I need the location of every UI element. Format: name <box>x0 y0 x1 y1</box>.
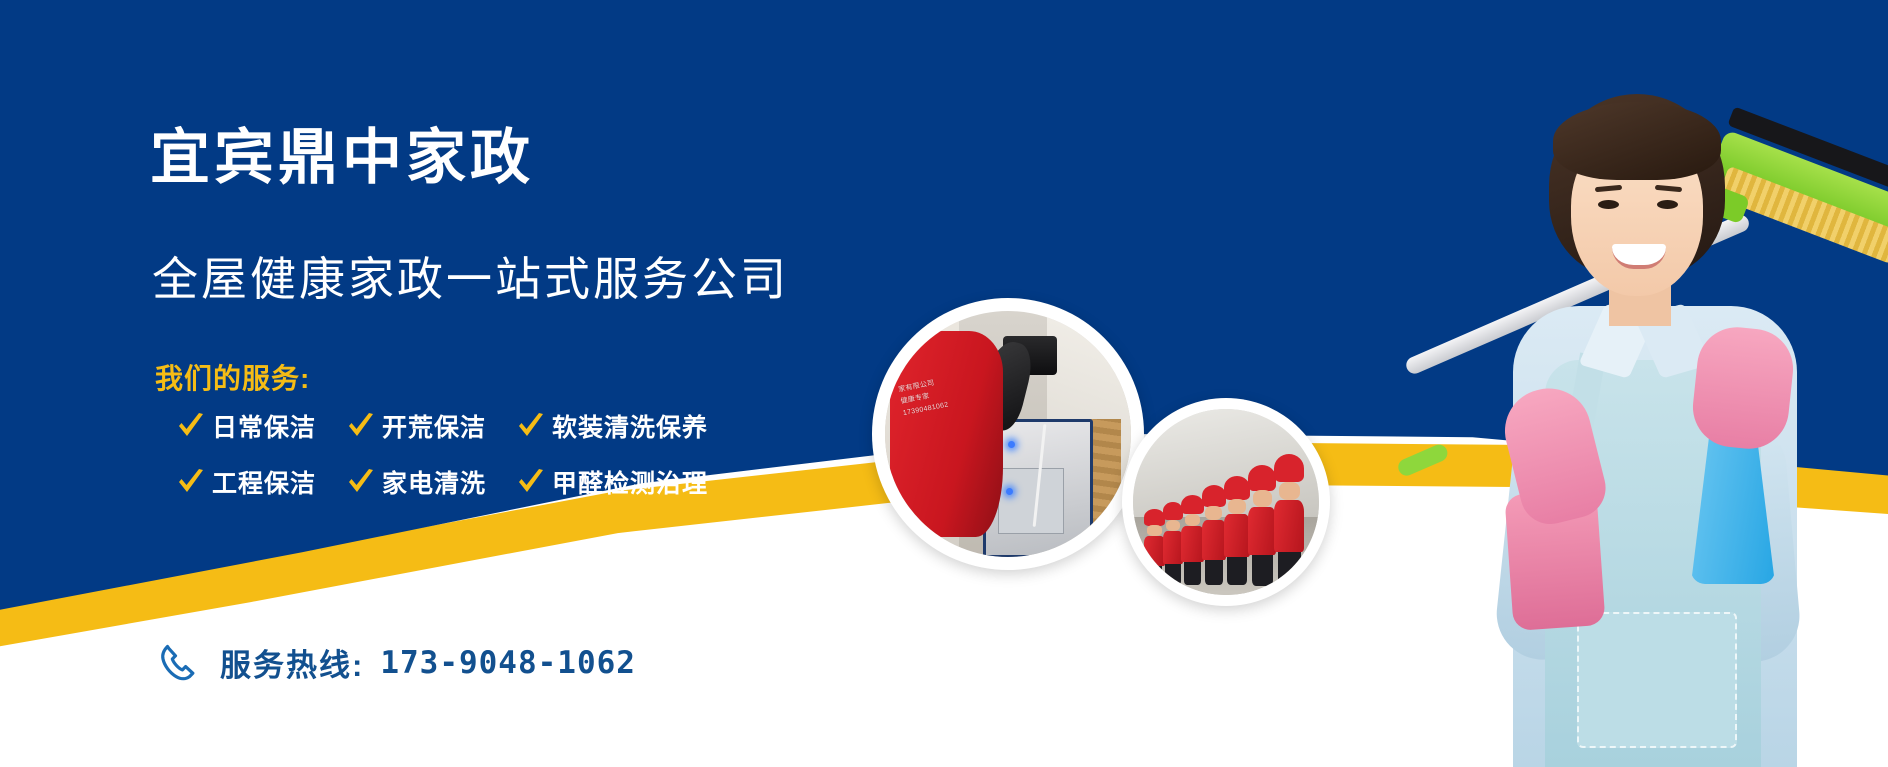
brand-subtitle: 全屋健康家政一站式服务公司 <box>152 256 789 302</box>
banner-content: 宜宾鼎中家政 全屋健康家政一站式服务公司 我们的服务: 日常保洁 <box>0 0 1888 767</box>
service-item-soft-furnishing-care[interactable]: 软装清洗保养 <box>516 408 708 444</box>
service-item-rough-cleaning[interactable]: 开荒保洁 <box>346 408 488 444</box>
hotline[interactable]: 服务热线: 173-9048-1062 <box>158 640 636 685</box>
check-icon <box>346 411 376 441</box>
services-row-1: 日常保洁 开荒保洁 软装清洗保养 <box>176 408 708 444</box>
services-list: 日常保洁 开荒保洁 软装清洗保养 <box>176 408 708 500</box>
service-item-daily-cleaning[interactable]: 日常保洁 <box>176 408 318 444</box>
service-label: 开荒保洁 <box>382 408 486 444</box>
check-icon <box>516 411 546 441</box>
promotional-banner: 家有限公司 健康专家 17390481062 宜宾鼎中家政 <box>0 0 1888 767</box>
services-row-2: 工程保洁 家电清洗 甲醛检测治理 <box>176 464 708 500</box>
service-label: 工程保洁 <box>212 464 316 500</box>
brand-title: 宜宾鼎中家政 <box>150 128 534 188</box>
hotline-label: 服务热线: <box>220 640 364 685</box>
service-label: 软装清洗保养 <box>552 408 708 444</box>
service-label: 日常保洁 <box>212 408 316 444</box>
hotline-number[interactable]: 173-9048-1062 <box>380 645 636 681</box>
check-icon <box>176 467 206 497</box>
check-icon <box>176 411 206 441</box>
phone-icon <box>158 642 200 684</box>
service-item-appliance-cleaning[interactable]: 家电清洗 <box>346 464 488 500</box>
services-heading: 我们的服务: <box>155 365 310 393</box>
service-label: 家电清洗 <box>382 464 486 500</box>
check-icon <box>346 467 376 497</box>
service-item-project-cleaning[interactable]: 工程保洁 <box>176 464 318 500</box>
service-label: 甲醛检测治理 <box>552 464 708 500</box>
check-icon <box>516 467 546 497</box>
service-item-formaldehyde-treatment[interactable]: 甲醛检测治理 <box>516 464 708 500</box>
